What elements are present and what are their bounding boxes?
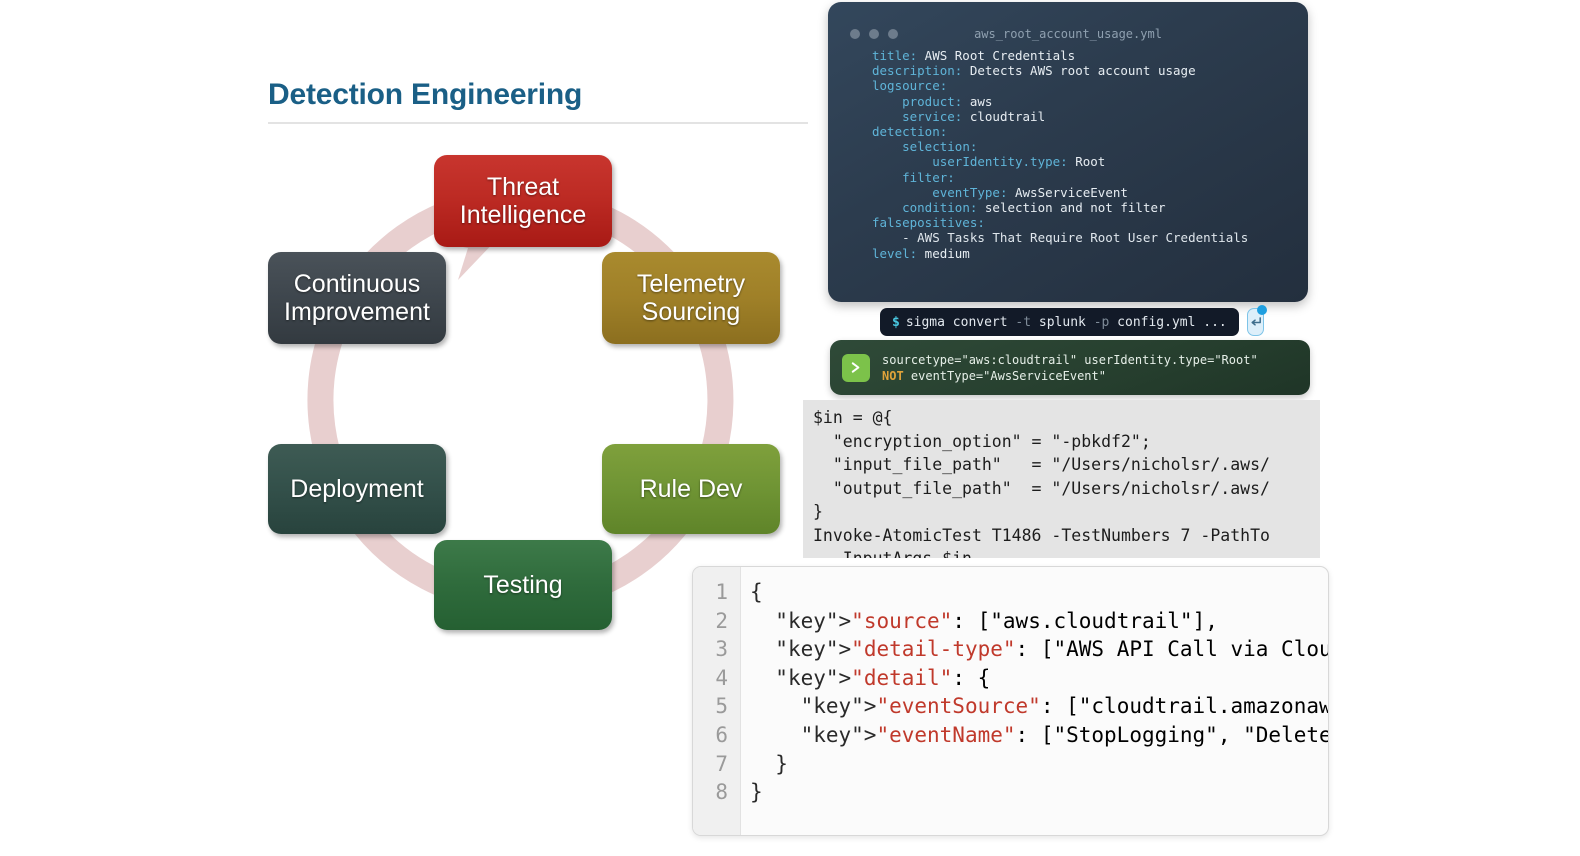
sigma-rule-editor-window[interactable]: aws_root_account_usage.yml title: AWS Ro… (828, 2, 1308, 302)
splunk-query-text: sourcetype="aws:cloudtrail" userIdentity… (882, 352, 1258, 384)
cycle-node-threat-intelligence[interactable]: ThreatIntelligence (434, 155, 612, 247)
powershell-script-panel: $in = @{ "encryption_option" = "-pbkdf2"… (803, 400, 1320, 558)
cycle-node-label: TelemetrySourcing (637, 270, 745, 326)
window-titlebar: aws_root_account_usage.yml (828, 2, 1308, 46)
cycle-node-label: Rule Dev (640, 475, 743, 503)
return-arrow-icon (1248, 315, 1263, 330)
cycle-node-label: ContinuousImprovement (284, 270, 430, 326)
title-divider (268, 122, 808, 124)
shell-prompt-symbol: $ (892, 315, 900, 330)
json-code-body: 1{2 "key">"source": ["aws.cloudtrail"],3… (693, 567, 1328, 807)
powershell-code-body: $in = @{ "encryption_option" = "-pbkdf2"… (803, 400, 1320, 558)
command-input[interactable]: $ sigma convert -t splunk -p config.yml … (880, 308, 1239, 336)
run-command-button[interactable] (1247, 308, 1264, 336)
yaml-code-body: title: AWS Root Credentialsdescription: … (828, 46, 1308, 261)
cycle-node-testing[interactable]: Testing (434, 540, 612, 630)
notification-badge (1257, 305, 1267, 315)
eventbridge-json-panel: 1{2 "key">"source": ["aws.cloudtrail"],3… (692, 566, 1329, 836)
cycle-node-label: ThreatIntelligence (460, 173, 586, 229)
window-filename: aws_root_account_usage.yml (828, 27, 1308, 41)
page-title: Detection Engineering (268, 78, 582, 112)
cycle-node-label: Deployment (290, 475, 423, 503)
cycle-node-deployment[interactable]: Deployment (268, 444, 446, 534)
cycle-node-telemetry-sourcing[interactable]: TelemetrySourcing (602, 252, 780, 344)
command-text: sigma convert -t splunk -p config.yml ..… (906, 315, 1227, 330)
terminal-prompt-icon (842, 354, 870, 382)
splunk-query-output-panel: sourcetype="aws:cloudtrail" userIdentity… (830, 340, 1310, 395)
cycle-node-continuous-improvement[interactable]: ContinuousImprovement (268, 252, 446, 344)
cycle-node-rule-dev[interactable]: Rule Dev (602, 444, 780, 534)
command-bar[interactable]: $ sigma convert -t splunk -p config.yml … (880, 305, 1240, 339)
cycle-node-label: Testing (483, 571, 562, 599)
